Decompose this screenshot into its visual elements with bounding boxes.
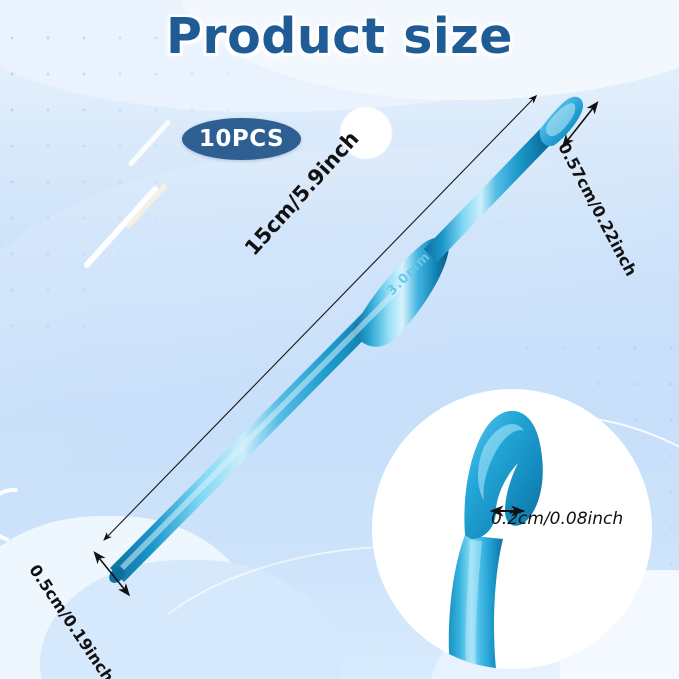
magnified-hook-callout bbox=[372, 389, 652, 669]
magnified-hook-drawing bbox=[372, 389, 652, 669]
product-size-infographic: Product size 10PCS bbox=[0, 0, 679, 679]
hook-throat-dimension-label: 0.2cm/0.08inch bbox=[491, 509, 623, 529]
